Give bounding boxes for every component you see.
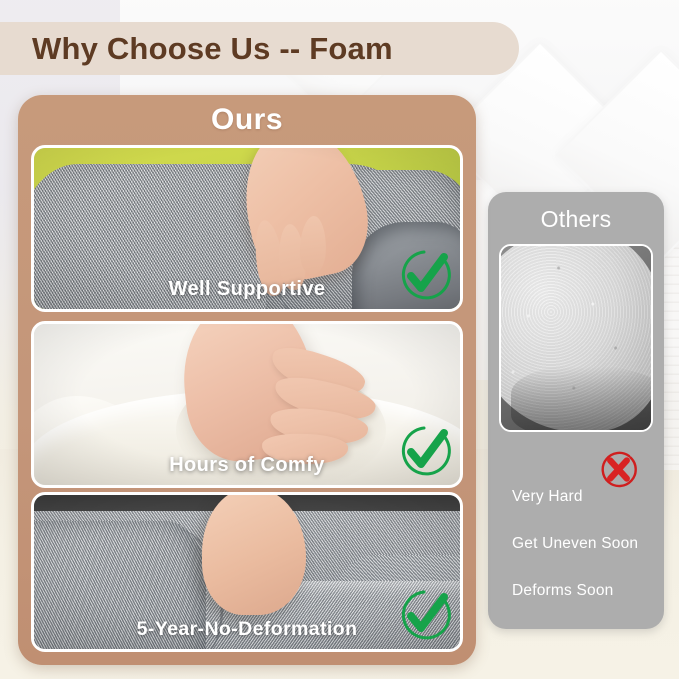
others-photo bbox=[499, 244, 653, 432]
others-panel: Others Very Hard Get Uneven Soon Deforms… bbox=[488, 192, 664, 629]
hand bbox=[202, 492, 306, 615]
red-x-icon bbox=[596, 447, 641, 492]
ours-card-well-supportive: Well Supportive bbox=[31, 145, 463, 312]
others-title: Others bbox=[488, 206, 664, 233]
chair-armrest bbox=[352, 222, 463, 312]
ours-panel: Ours Well Supportive bbox=[18, 95, 476, 665]
list-item: Deforms Soon bbox=[500, 582, 664, 600]
list-item: Get Uneven Soon bbox=[500, 535, 664, 553]
ours-title: Ours bbox=[18, 103, 476, 137]
ours-card-5-year-no-deformation: 5-Year-No-Deformation bbox=[31, 492, 463, 652]
others-foam-shadow bbox=[511, 366, 653, 432]
others-drawback-list: Very Hard Get Uneven Soon Deforms Soon bbox=[500, 488, 664, 629]
ours-card-hours-of-comfy: Hours of Comfy bbox=[31, 321, 463, 488]
header-banner: Why Choose Us -- Foam bbox=[0, 22, 519, 75]
infographic-canvas: Others Very Hard Get Uneven Soon Deforms… bbox=[0, 0, 679, 679]
page-title: Why Choose Us -- Foam bbox=[32, 31, 393, 67]
